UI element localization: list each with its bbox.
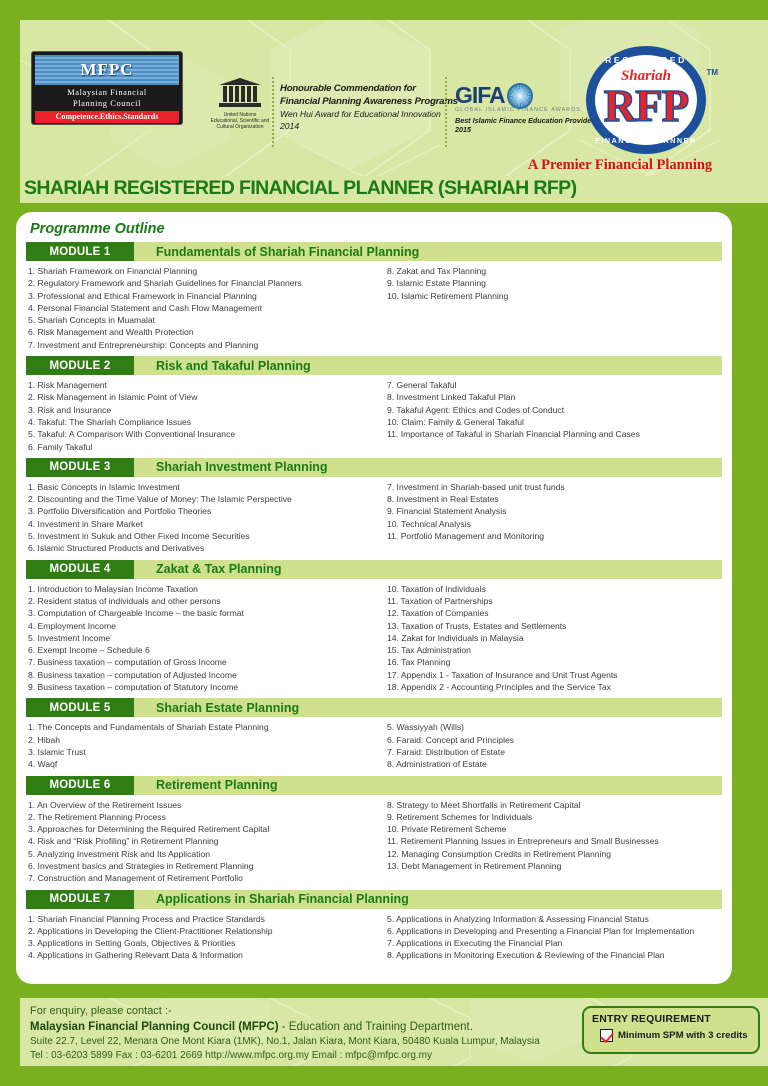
trademark-symbol: TM	[706, 68, 718, 77]
module-6: MODULE 6Retirement Planning1. An Overvie…	[26, 776, 722, 889]
topic-item: 4. Waqf	[28, 758, 369, 770]
topic-item: 3. Risk and Insurance	[28, 404, 369, 416]
topic-item: 3. Portfolio Diversification and Portfol…	[28, 505, 369, 517]
topic-item: 3. Approaches for Determining the Requir…	[28, 823, 369, 835]
topic-item: 4. Applications in Gathering Relevant Da…	[28, 949, 369, 961]
topic-item: 5. Takaful: A Comparison With Convention…	[28, 428, 369, 440]
topic-item: 13. Taxation of Trusts, Estates and Sett…	[387, 620, 716, 632]
topic-item: 7. Construction and Management of Retire…	[28, 872, 369, 884]
footer-band: For enquiry, please contact :- Malaysian…	[20, 998, 768, 1066]
rfp-logo: REGISTERED Shariah RFP FINANCIAL PLANNER…	[586, 46, 706, 154]
mfpc-name-line1: Malaysian Financial	[35, 87, 179, 98]
gifa-logo: GIFA GLOBAL ISLAMIC FINANCE AWARDS Best …	[455, 82, 600, 134]
mfpc-tagline: Competence.Ethics.Standards	[35, 111, 179, 123]
module-1: MODULE 1Fundamentals of Shariah Financia…	[26, 242, 722, 355]
topic-item: 1. The Concepts and Fundamentals of Shar…	[28, 721, 369, 733]
footer-address: Suite 22.7, Level 22, Menara One Mont Ki…	[30, 1035, 540, 1049]
topic-item: 8. Investment Linked Takaful Plan	[387, 391, 716, 403]
module-topic-column-left: 1. Shariah Framework on Financial Planni…	[28, 265, 375, 351]
gifa-subtitle: GLOBAL ISLAMIC FINANCE AWARDS	[455, 107, 600, 113]
topic-item: 6. Risk Management and Wealth Protection	[28, 326, 369, 338]
topic-item: 6. Faraid: Concept and Principles	[387, 734, 716, 746]
unesco-caption-line3: Cultural Organization	[210, 124, 270, 130]
mfpc-name-band: Malaysian Financial Planning Council	[35, 85, 179, 111]
topic-item: 1. Shariah Framework on Financial Planni…	[28, 265, 369, 277]
rfp-arc-top-text: REGISTERED	[586, 55, 706, 65]
topic-item: 8. Applications in Monitoring Execution …	[387, 949, 716, 961]
topic-item: 9. Takaful Agent: Ethics and Codes of Co…	[387, 404, 716, 416]
module-topic-column-left: 1. Risk Management2. Risk Management in …	[28, 379, 375, 453]
topic-item: 18. Appendix 2 - Accounting Principles a…	[387, 681, 716, 693]
topic-item: 16. Tax Planning	[387, 656, 716, 668]
topic-item: 9. Business taxation – computation of St…	[28, 681, 369, 693]
footer-org-dept: - Education and Training Department.	[279, 1021, 473, 1033]
module-header: MODULE 6Retirement Planning	[26, 776, 722, 795]
topic-item: 9. Financial Statement Analysis	[387, 505, 716, 517]
premier-line1: A Premier Financial Planning	[490, 156, 750, 174]
module-title: Zakat & Tax Planning	[134, 560, 722, 579]
module-topics: 1. The Concepts and Fundamentals of Shar…	[26, 717, 722, 774]
unesco-caption: United Nations Educational, Scientific a…	[210, 112, 270, 131]
gifa-globe-icon	[507, 83, 533, 109]
programme-card: Programme Outline MODULE 1Fundamentals o…	[16, 212, 732, 984]
commendation-line1: Honourable Commendation for	[280, 82, 460, 95]
topic-item: 11. Taxation of Partnerships	[387, 595, 716, 607]
unesco-commendation: Honourable Commendation for Financial Pl…	[280, 82, 460, 132]
module-2: MODULE 2Risk and Takaful Planning1. Risk…	[26, 356, 722, 457]
module-topic-column-left: 1. Shariah Financial Planning Process an…	[28, 913, 375, 962]
title-bar: SHARIAH REGISTERED FINANCIAL PLANNER (SH…	[20, 176, 768, 204]
topic-item: 11. Portfolio Management and Monitoring	[387, 530, 716, 542]
topic-item: 5. Analyzing Investment Risk and Its App…	[28, 848, 369, 860]
module-header: MODULE 4Zakat & Tax Planning	[26, 560, 722, 579]
module-header: MODULE 1Fundamentals of Shariah Financia…	[26, 242, 722, 261]
module-number-badge: MODULE 3	[26, 458, 134, 477]
page-title: SHARIAH REGISTERED FINANCIAL PLANNER (SH…	[24, 177, 577, 200]
module-topics: 1. An Overview of the Retirement Issues2…	[26, 795, 722, 889]
bottom-strip	[0, 1066, 768, 1086]
module-topic-column-left: 1. Basic Concepts in Islamic Investment2…	[28, 481, 375, 555]
module-header: MODULE 3Shariah Investment Planning	[26, 458, 722, 477]
module-number-badge: MODULE 7	[26, 890, 134, 909]
topic-item: 11. Importance of Takaful in Shariah Fin…	[387, 428, 716, 440]
topic-item: 6. Applications in Developing and Presen…	[387, 925, 716, 937]
checkbox-checked-icon	[600, 1029, 613, 1042]
divider-dotted-2	[445, 77, 447, 147]
module-header: MODULE 2Risk and Takaful Planning	[26, 356, 722, 375]
topic-item: 2. Applications in Developing the Client…	[28, 925, 369, 937]
mfpc-acronym: MFPC	[80, 60, 133, 80]
module-topic-column-left: 1. The Concepts and Fundamentals of Shar…	[28, 721, 375, 770]
topic-item: 5. Investment Income	[28, 632, 369, 644]
footer-contact-details: Tel : 03-6203 5899 Fax : 03-6201 2669 ht…	[30, 1049, 540, 1063]
module-title: Applications in Shariah Financial Planni…	[134, 890, 722, 909]
topic-item: 5. Investment in Sukuk and Other Fixed I…	[28, 530, 369, 542]
module-5: MODULE 5Shariah Estate Planning1. The Co…	[26, 698, 722, 774]
topic-item: 2. Regulatory Framework and Shariah Guid…	[28, 277, 369, 289]
commendation-line2: Financial Planning Awareness Programs	[280, 95, 460, 108]
topic-item: 3. Professional and Ethical Framework in…	[28, 290, 369, 302]
topic-item: 15. Tax Administration	[387, 644, 716, 656]
module-number-badge: MODULE 6	[26, 776, 134, 795]
gifa-award: Best Islamic Finance Education Provider …	[455, 116, 600, 134]
topic-item: 2. The Retirement Planning Process	[28, 811, 369, 823]
premier-tagline: A Premier Financial Planning Designation…	[490, 156, 750, 176]
topic-item: 13. Debt Management in Retirement Planni…	[387, 860, 716, 872]
topic-item: 14. Zakat for Individuals in Malaysia	[387, 632, 716, 644]
header-band: MFPC Malaysian Financial Planning Counci…	[20, 20, 768, 176]
mfpc-logo: MFPC Malaysian Financial Planning Counci…	[32, 52, 182, 124]
unesco-logo: United Nations Educational, Scientific a…	[210, 78, 270, 131]
topic-item: 8. Zakat and Tax Planning	[387, 265, 716, 277]
module-topics: 1. Shariah Financial Planning Process an…	[26, 909, 722, 966]
footer-org-line: Malaysian Financial Planning Council (MF…	[30, 1019, 540, 1035]
module-topics: 1. Shariah Framework on Financial Planni…	[26, 261, 722, 355]
module-topics: 1. Risk Management2. Risk Management in …	[26, 375, 722, 457]
module-title: Retirement Planning	[134, 776, 722, 795]
module-number-badge: MODULE 5	[26, 698, 134, 717]
poster-root: MFPC Malaysian Financial Planning Counci…	[0, 0, 768, 1086]
topic-item: 5. Shariah Concepts in Muamalat	[28, 314, 369, 326]
rfp-letters: RFP	[586, 80, 706, 132]
topic-item: 17. Appendix 1 - Taxation of Insurance a…	[387, 669, 716, 681]
mfpc-name-line2: Planning Council	[35, 98, 179, 109]
topic-item: 7. Faraid: Distribution of Estate	[387, 746, 716, 758]
module-number-badge: MODULE 4	[26, 560, 134, 579]
topic-item: 8. Administration of Estate	[387, 758, 716, 770]
module-topic-column-right: 5. Wassiyyah (Wills)6. Faraid: Concept a…	[375, 721, 722, 770]
module-topic-column-right: 5. Applications in Analyzing Information…	[375, 913, 722, 962]
topic-item: 10. Taxation of Individuals	[387, 583, 716, 595]
module-3: MODULE 3Shariah Investment Planning1. Ba…	[26, 458, 722, 559]
module-title: Fundamentals of Shariah Financial Planni…	[134, 242, 722, 261]
topic-item: 2. Resident status of individuals and ot…	[28, 595, 369, 607]
module-number-badge: MODULE 2	[26, 356, 134, 375]
topic-item: 4. Risk and “Risk Profiling” in Retireme…	[28, 835, 369, 847]
module-title: Risk and Takaful Planning	[134, 356, 722, 375]
module-topic-column-right: 8. Zakat and Tax Planning9. Islamic Esta…	[375, 265, 722, 351]
topic-item: 1. Shariah Financial Planning Process an…	[28, 913, 369, 925]
module-topic-column-left: 1. Introduction to Malaysian Income Taxa…	[28, 583, 375, 694]
topic-item: 4. Personal Financial Statement and Cash…	[28, 302, 369, 314]
entry-requirement-title: ENTRY REQUIREMENT	[592, 1013, 750, 1025]
topic-item: 3. Computation of Chargeable Income – th…	[28, 607, 369, 619]
module-7: MODULE 7Applications in Shariah Financia…	[26, 890, 722, 966]
module-4: MODULE 4Zakat & Tax Planning1. Introduct…	[26, 560, 722, 698]
module-header: MODULE 7Applications in Shariah Financia…	[26, 890, 722, 909]
topic-item: 7. Investment in Shariah-based unit trus…	[387, 481, 716, 493]
topic-item: 2. Risk Management in Islamic Point of V…	[28, 391, 369, 403]
module-topic-column-right: 8. Strategy to Meet Shortfalls in Retire…	[375, 799, 722, 885]
module-number-badge: MODULE 1	[26, 242, 134, 261]
topic-item: 9. Retirement Schemes for Individuals	[387, 811, 716, 823]
topic-item: 2. Hibah	[28, 734, 369, 746]
topic-item: 3. Applications in Setting Goals, Object…	[28, 937, 369, 949]
module-topic-column-right: 10. Taxation of Individuals11. Taxation …	[375, 583, 722, 694]
topic-item: 5. Applications in Analyzing Information…	[387, 913, 716, 925]
topic-item: 4. Investment in Share Market	[28, 518, 369, 530]
rfp-arc-bottom-text: FINANCIAL PLANNER	[586, 136, 706, 145]
topic-item: 4. Takaful: The Shariah Compliance Issue…	[28, 416, 369, 428]
topic-item: 6. Investment basics and Strategies in R…	[28, 860, 369, 872]
topic-item: 11. Retirement Planning Issues in Entrep…	[387, 835, 716, 847]
topic-item: 7. Applications in Executing the Financi…	[387, 937, 716, 949]
topic-item: 10. Islamic Retirement Planning	[387, 290, 716, 302]
topic-item: 3. Islamic Trust	[28, 746, 369, 758]
footer-org-name: Malaysian Financial Planning Council (MF…	[30, 1021, 279, 1033]
modules-list: MODULE 1Fundamentals of Shariah Financia…	[26, 242, 722, 966]
module-topic-column-right: 7. Investment in Shariah-based unit trus…	[375, 481, 722, 555]
divider-dotted-1	[272, 77, 274, 147]
module-title: Shariah Investment Planning	[134, 458, 722, 477]
module-topics: 1. Introduction to Malaysian Income Taxa…	[26, 579, 722, 698]
entry-requirement-text: Minimum SPM with 3 credits	[618, 1030, 748, 1041]
topic-item: 12. Taxation of Companies	[387, 607, 716, 619]
topic-item: 6. Family Takaful	[28, 441, 369, 453]
entry-requirement-box: ENTRY REQUIREMENT Minimum SPM with 3 cre…	[582, 1006, 760, 1054]
topic-item: 6. Exempt Income – Schedule 6	[28, 644, 369, 656]
topic-item: 5. Wassiyyah (Wills)	[387, 721, 716, 733]
module-topics: 1. Basic Concepts in Islamic Investment2…	[26, 477, 722, 559]
module-title: Shariah Estate Planning	[134, 698, 722, 717]
topic-item: 4. Employment Income	[28, 620, 369, 632]
topic-item: 10. Claim: Family & General Takaful	[387, 416, 716, 428]
module-topic-column-left: 1. An Overview of the Retirement Issues2…	[28, 799, 375, 885]
commendation-line3: Wen Hui Award for Educational Innovation…	[280, 108, 460, 132]
mfpc-acronym-band: MFPC	[35, 55, 179, 85]
topic-item: 8. Strategy to Meet Shortfalls in Retire…	[387, 799, 716, 811]
unesco-temple-icon	[219, 78, 261, 110]
gifa-wordmark: GIFA	[455, 82, 505, 109]
topic-item: 1. Introduction to Malaysian Income Taxa…	[28, 583, 369, 595]
topic-item: 9. Islamic Estate Planning	[387, 277, 716, 289]
footer-enquiry-line: For enquiry, please contact :-	[30, 1004, 540, 1019]
topic-item: 12. Managing Consumption Credits in Reti…	[387, 848, 716, 860]
programme-outline-heading: Programme Outline	[30, 221, 722, 237]
topic-item: 10. Private Retirement Scheme	[387, 823, 716, 835]
topic-item: 1. Risk Management	[28, 379, 369, 391]
topic-item: 10. Technical Analysis	[387, 518, 716, 530]
module-header: MODULE 5Shariah Estate Planning	[26, 698, 722, 717]
topic-item: 1. An Overview of the Retirement Issues	[28, 799, 369, 811]
topic-item: 1. Basic Concepts in Islamic Investment	[28, 481, 369, 493]
module-topic-column-right: 7. General Takaful8. Investment Linked T…	[375, 379, 722, 453]
topic-item: 7. General Takaful	[387, 379, 716, 391]
topic-item: 7. Business taxation – computation of Gr…	[28, 656, 369, 668]
topic-item: 8. Business taxation – computation of Ad…	[28, 669, 369, 681]
topic-item: 8. Investment in Real Estates	[387, 493, 716, 505]
topic-item: 2. Discounting and the Time Value of Mon…	[28, 493, 369, 505]
topic-item: 6. Islamic Structured Products and Deriv…	[28, 542, 369, 554]
topic-item: 7. Investment and Entrepreneurship: Conc…	[28, 339, 369, 351]
footer-contact: For enquiry, please contact :- Malaysian…	[30, 1004, 540, 1063]
